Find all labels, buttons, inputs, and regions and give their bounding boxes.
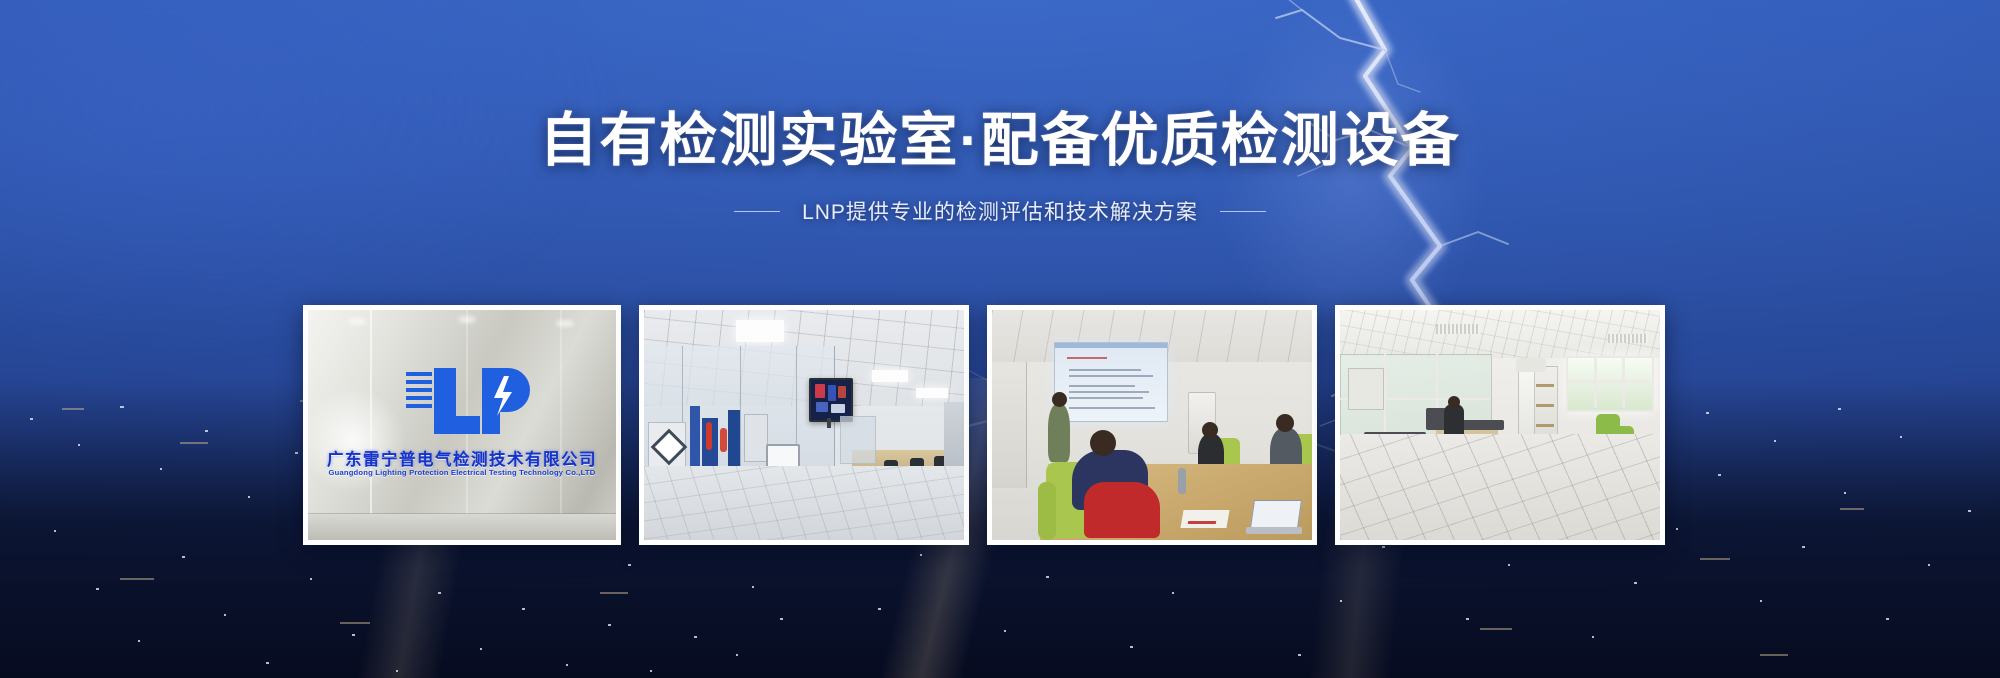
floor-tiles <box>644 466 964 540</box>
window-mullion <box>1566 380 1650 383</box>
ceiling-vent <box>1608 334 1648 343</box>
presenter-body <box>1048 404 1070 462</box>
headline-block: 自有检测实验室·配备优质检测设备 LNP提供专业的检测评估和技术解决方案 <box>0 0 2000 226</box>
paper-document <box>1180 510 1229 528</box>
wall-seam <box>560 310 562 540</box>
hero-banner: 自有检测实验室·配备优质检测设备 LNP提供专业的检测评估和技术解决方案 <box>0 0 2000 678</box>
red-marker <box>1188 521 1217 524</box>
glass-frame <box>740 346 741 470</box>
blue-column <box>728 410 740 468</box>
meeting-photo <box>992 310 1312 540</box>
red-bushing <box>706 422 712 450</box>
company-name-en: Guangdong Lighting Protection Electrical… <box>312 468 612 477</box>
ceiling-light <box>458 316 476 323</box>
slide-heading <box>1067 357 1107 359</box>
laptop-base <box>1246 527 1302 534</box>
foreground-attendee-head <box>1090 430 1116 456</box>
ceiling-panel-light <box>872 370 908 382</box>
slide-line <box>1069 391 1149 393</box>
seated-worker-head <box>1448 396 1460 408</box>
signage-photo: 广东雷宁普电气检测技术有限公司 Guangdong Lighting Prote… <box>308 310 616 540</box>
thermos <box>1178 468 1186 494</box>
attendee-head <box>1202 422 1218 438</box>
ceiling-light <box>556 320 574 327</box>
shelf <box>1536 424 1554 427</box>
ceiling-panel-light <box>916 388 948 398</box>
ceiling-vent <box>1436 324 1480 334</box>
slide-line <box>1069 369 1141 371</box>
wall-seam <box>370 310 372 540</box>
page-subtitle: LNP提供专业的检测评估和技术解决方案 <box>802 196 1198 226</box>
shelf <box>1536 404 1554 407</box>
desktop-monitor <box>1426 408 1446 430</box>
gallery-card-meeting[interactable] <box>987 305 1317 545</box>
door <box>992 362 1027 488</box>
foreground-attendee-jacket <box>1084 482 1160 538</box>
slide-title-bar <box>1055 343 1167 348</box>
laptop-screen <box>1250 500 1302 528</box>
photo-gallery: 广东雷宁普电气检测技术有限公司 Guangdong Lighting Prote… <box>303 305 1647 545</box>
projection-screen <box>1054 342 1168 422</box>
laptop <box>1246 500 1302 534</box>
page-title: 自有检测实验室·配备优质检测设备 <box>0 0 2000 170</box>
floor <box>308 514 616 540</box>
seated-worker-body <box>1444 404 1464 438</box>
control-cabinet <box>744 414 768 462</box>
company-name-cn: 广东雷宁普电气检测技术有限公司 <box>314 446 610 470</box>
slide-line <box>1069 375 1153 377</box>
equipment-cabinet <box>1348 368 1384 410</box>
gallery-card-laboratory[interactable] <box>639 305 969 545</box>
corridor-wall <box>944 402 964 470</box>
shelf <box>1536 384 1554 387</box>
subtitle-row: LNP提供专业的检测评估和技术解决方案 <box>0 170 2000 226</box>
glass-cabinet <box>840 416 876 464</box>
monitor-mount <box>827 418 831 428</box>
dash-right-icon <box>1220 211 1266 212</box>
slide-line <box>1069 385 1135 387</box>
office-photo <box>1340 310 1660 540</box>
slide-line <box>1069 407 1155 409</box>
dash-left-icon <box>734 211 780 212</box>
chair-arm <box>1038 482 1056 540</box>
blue-column <box>690 406 700 468</box>
ceiling-light <box>348 318 366 325</box>
presenter-head <box>1052 392 1067 407</box>
lnp-logo-icon <box>404 366 534 438</box>
gallery-card-office[interactable] <box>1335 305 1665 545</box>
ceiling-panel-light <box>736 320 784 342</box>
gallery-card-signage[interactable]: 广东雷宁普电气检测技术有限公司 Guangdong Lighting Prote… <box>303 305 621 545</box>
floor-tiles <box>1340 434 1660 540</box>
wall-ac-unit <box>1516 358 1546 372</box>
slide-line <box>1069 397 1143 399</box>
laboratory-photo <box>644 310 964 540</box>
attendee-head <box>1276 414 1294 432</box>
window <box>1566 356 1654 412</box>
red-bushing <box>720 428 727 452</box>
